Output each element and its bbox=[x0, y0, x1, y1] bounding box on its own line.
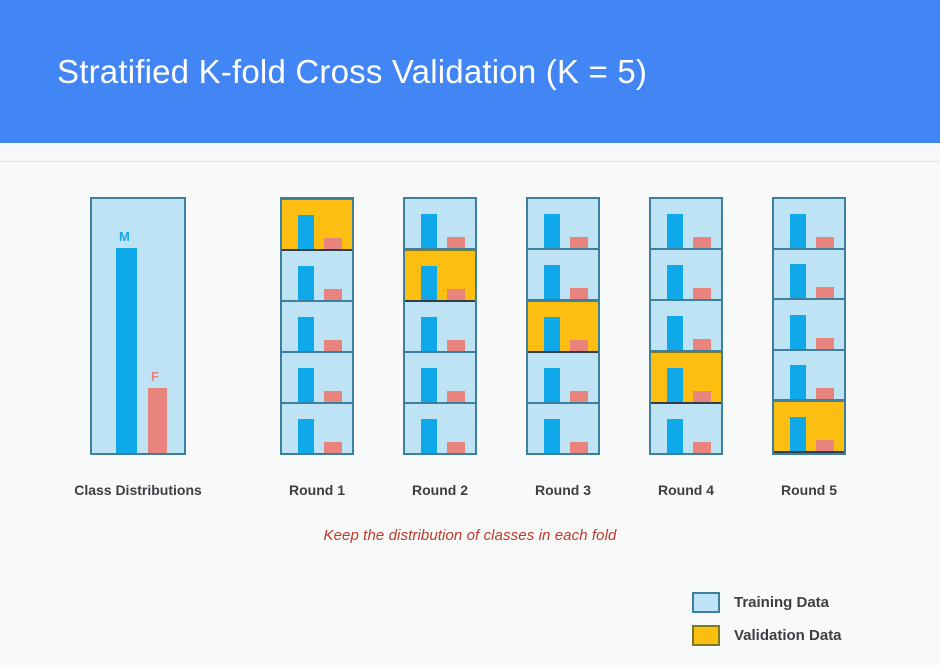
class-bar-female bbox=[148, 388, 167, 453]
fold-training[interactable] bbox=[405, 199, 475, 250]
fold-bar-female bbox=[447, 442, 465, 453]
legend: Training Data Validation Data bbox=[692, 592, 842, 646]
fold-bar-male bbox=[421, 419, 437, 453]
fold-training[interactable] bbox=[282, 251, 352, 302]
round-column[interactable] bbox=[526, 197, 600, 455]
fold-bar-female bbox=[693, 339, 711, 350]
fold-bar-male bbox=[421, 266, 437, 300]
header-underband bbox=[0, 143, 940, 161]
fold-training[interactable] bbox=[774, 351, 844, 402]
fold-bar-male bbox=[667, 368, 683, 402]
fold-bar-female bbox=[570, 391, 588, 402]
fold-training[interactable] bbox=[651, 404, 721, 453]
fold-bar-female bbox=[447, 340, 465, 351]
fold-bar-female bbox=[693, 442, 711, 453]
fold-training[interactable] bbox=[405, 353, 475, 404]
fold-training[interactable] bbox=[528, 353, 598, 404]
fold-bar-male bbox=[544, 368, 560, 402]
fold-bar-male bbox=[298, 368, 314, 402]
fold-training[interactable] bbox=[405, 302, 475, 353]
fold-validation[interactable] bbox=[651, 352, 721, 404]
fold-bar-female bbox=[816, 338, 834, 349]
fold-training[interactable] bbox=[651, 250, 721, 301]
fold-bar-female bbox=[570, 340, 588, 351]
legend-label-validation: Validation Data bbox=[734, 627, 842, 644]
fold-bar-male bbox=[544, 317, 560, 351]
fold-bar-male bbox=[790, 264, 806, 298]
legend-item-validation: Validation Data bbox=[692, 625, 842, 646]
round-caption: Round 1 bbox=[280, 482, 354, 498]
fold-bar-male bbox=[421, 368, 437, 402]
fold-training[interactable] bbox=[528, 250, 598, 301]
fold-bar-male bbox=[667, 214, 683, 248]
legend-label-training: Training Data bbox=[734, 594, 829, 611]
fold-bar-female bbox=[324, 340, 342, 351]
fold-bar-female bbox=[816, 388, 834, 399]
round-caption: Round 5 bbox=[772, 482, 846, 498]
round-caption: Round 4 bbox=[649, 482, 723, 498]
fold-bar-female bbox=[693, 237, 711, 248]
slide-header: Stratified K-fold Cross Validation (K = … bbox=[0, 0, 940, 143]
fold-bar-female bbox=[324, 238, 342, 249]
legend-swatch-training-icon bbox=[692, 592, 720, 613]
stratification-note: Keep the distribution of classes in each… bbox=[0, 527, 940, 544]
fold-bar-male bbox=[544, 265, 560, 299]
legend-item-training: Training Data bbox=[692, 592, 842, 613]
fold-bar-female bbox=[324, 289, 342, 300]
fold-bar-female bbox=[816, 440, 834, 451]
fold-training[interactable] bbox=[774, 300, 844, 351]
fold-bar-male bbox=[790, 214, 806, 248]
fold-validation[interactable] bbox=[774, 401, 844, 453]
fold-bar-female bbox=[570, 442, 588, 453]
fold-bar-male bbox=[421, 214, 437, 248]
fold-validation[interactable] bbox=[528, 301, 598, 353]
fold-bar-male bbox=[544, 214, 560, 248]
fold-training[interactable] bbox=[405, 404, 475, 453]
fold-training[interactable] bbox=[282, 302, 352, 353]
fold-bar-female bbox=[693, 288, 711, 299]
fold-training[interactable] bbox=[774, 199, 844, 250]
round-column[interactable] bbox=[280, 197, 354, 455]
fold-bar-male bbox=[667, 316, 683, 350]
fold-bar-female bbox=[570, 237, 588, 248]
fold-bar-female bbox=[816, 237, 834, 248]
fold-training[interactable] bbox=[651, 199, 721, 250]
fold-bar-male bbox=[298, 215, 314, 249]
round-caption: Round 2 bbox=[403, 482, 477, 498]
fold-training[interactable] bbox=[651, 301, 721, 352]
fold-validation[interactable] bbox=[282, 199, 352, 251]
page-title: Stratified K-fold Cross Validation (K = … bbox=[0, 53, 647, 91]
round-column[interactable] bbox=[403, 197, 477, 455]
fold-bar-male bbox=[544, 419, 560, 453]
fold-bar-male bbox=[667, 265, 683, 299]
fold-training[interactable] bbox=[282, 353, 352, 404]
fold-bar-female bbox=[447, 391, 465, 402]
legend-swatch-validation-icon bbox=[692, 625, 720, 646]
fold-bar-male bbox=[298, 419, 314, 453]
class-label-male: M bbox=[119, 230, 130, 243]
round-column[interactable] bbox=[772, 197, 846, 455]
class-bar-male bbox=[116, 248, 137, 453]
fold-bar-male bbox=[790, 417, 806, 451]
fold-training[interactable] bbox=[528, 404, 598, 453]
fold-bar-male bbox=[298, 317, 314, 351]
fold-bar-male bbox=[667, 419, 683, 453]
fold-bar-female bbox=[447, 289, 465, 300]
class-label-female: F bbox=[151, 370, 159, 383]
fold-bar-female bbox=[693, 391, 711, 402]
round-caption: Round 3 bbox=[526, 482, 600, 498]
fold-bar-female bbox=[816, 287, 834, 298]
fold-bar-male bbox=[790, 315, 806, 349]
fold-bar-male bbox=[790, 365, 806, 399]
fold-validation[interactable] bbox=[405, 250, 475, 302]
fold-training[interactable] bbox=[774, 250, 844, 301]
fold-bar-female bbox=[324, 391, 342, 402]
fold-training[interactable] bbox=[282, 404, 352, 453]
fold-bar-female bbox=[324, 442, 342, 453]
diagram-stage: M F Class Distributions Round 1Round 2Ro… bbox=[0, 162, 940, 665]
fold-bar-male bbox=[421, 317, 437, 351]
class-distribution-panel: M F bbox=[90, 197, 186, 455]
fold-bar-female bbox=[447, 237, 465, 248]
round-column[interactable] bbox=[649, 197, 723, 455]
fold-bar-female bbox=[570, 288, 588, 299]
fold-bar-male bbox=[298, 266, 314, 300]
class-distribution-caption: Class Distributions bbox=[50, 482, 226, 498]
fold-training[interactable] bbox=[528, 199, 598, 250]
